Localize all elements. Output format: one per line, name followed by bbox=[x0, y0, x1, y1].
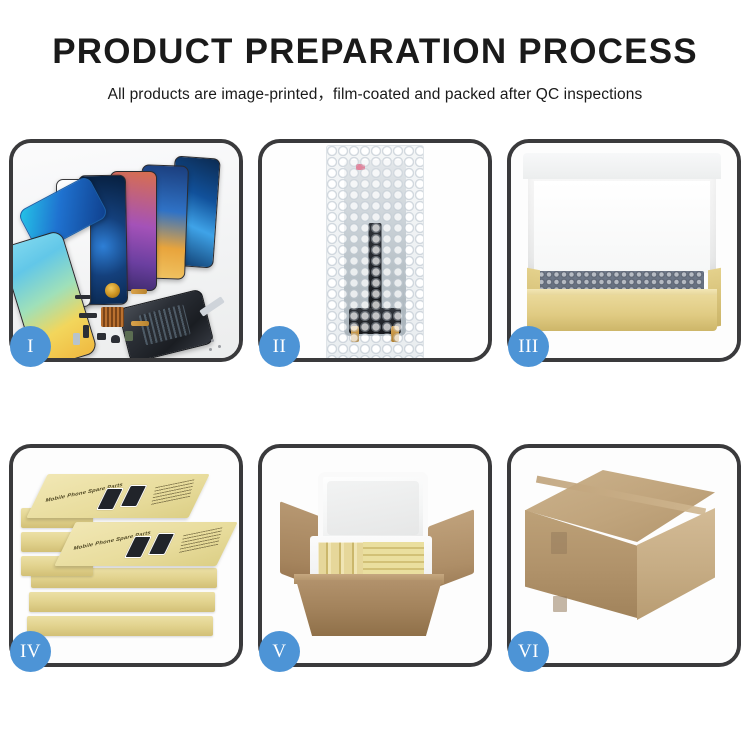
part-black-bar bbox=[75, 295, 91, 299]
step-badge-6: VI bbox=[508, 631, 549, 672]
part-speaker bbox=[111, 335, 120, 343]
foam-case-lid bbox=[318, 472, 428, 544]
step-badge-5: V bbox=[259, 631, 300, 672]
retail-box-edge-4 bbox=[29, 592, 215, 612]
page-header: PRODUCT PREPARATION PROCESS All products… bbox=[0, 0, 750, 104]
part-screw-1 bbox=[211, 339, 214, 342]
retail-box-lid-middle: Mobile Phone Spare Parts bbox=[54, 522, 237, 566]
part-screw-2 bbox=[218, 345, 221, 348]
retail-box-phone-image-4 bbox=[148, 533, 176, 555]
step-badge-4: IV bbox=[10, 631, 51, 672]
bubble-wrap-bag bbox=[326, 145, 424, 358]
process-step-1: I bbox=[9, 139, 243, 362]
step-4-image: Mobile Phone Spare Parts Mobile Phone Sp… bbox=[13, 448, 239, 663]
foam-lid bbox=[528, 153, 716, 273]
part-flex-cable-2 bbox=[131, 321, 149, 326]
process-step-6: VI bbox=[507, 444, 741, 667]
carton-tape-upper bbox=[551, 532, 567, 554]
process-step-3: III bbox=[507, 139, 741, 362]
retail-box-spec-lines-2 bbox=[178, 527, 222, 555]
carton-tape-lower bbox=[553, 596, 567, 612]
part-screw-3 bbox=[209, 348, 212, 351]
step-badge-3: III bbox=[508, 326, 549, 367]
part-copper-coil bbox=[105, 283, 120, 298]
step-2-image bbox=[262, 143, 488, 358]
part-grid-chip bbox=[101, 307, 124, 327]
retail-box-edge-5 bbox=[27, 616, 213, 636]
step-badge-1: I bbox=[10, 326, 51, 367]
part-connector-2 bbox=[83, 325, 89, 338]
page-title: PRODUCT PREPARATION PROCESS bbox=[0, 34, 750, 71]
part-battery-cell bbox=[125, 331, 133, 341]
part-sim-tray bbox=[73, 333, 80, 345]
step-badge-2: II bbox=[259, 326, 300, 367]
retail-box-lid-top: Mobile Phone Spare Parts bbox=[26, 474, 209, 518]
bubble-texture-overlay bbox=[327, 146, 423, 358]
process-step-5: V bbox=[258, 444, 492, 667]
process-step-2: II bbox=[258, 139, 492, 362]
part-flex-cable-1 bbox=[131, 289, 147, 294]
inner-box-front bbox=[527, 295, 717, 331]
part-connector-1 bbox=[79, 313, 97, 318]
retail-box-stack: Mobile Phone Spare Parts Mobile Phone Sp… bbox=[21, 464, 233, 654]
process-step-grid: I II III bbox=[9, 139, 741, 667]
retail-box-phone-image-2 bbox=[120, 485, 148, 507]
page-subtitle: All products are image-printed，film-coat… bbox=[0, 82, 750, 104]
step-5-image bbox=[262, 448, 488, 663]
step-1-image bbox=[13, 143, 239, 358]
step-3-image bbox=[511, 143, 737, 358]
part-button-module bbox=[97, 333, 106, 340]
retail-box-spec-lines-1 bbox=[150, 479, 194, 507]
carton-front-wall bbox=[296, 580, 442, 636]
process-step-4: Mobile Phone Spare Parts Mobile Phone Sp… bbox=[9, 444, 243, 667]
step-6-image bbox=[511, 448, 737, 663]
